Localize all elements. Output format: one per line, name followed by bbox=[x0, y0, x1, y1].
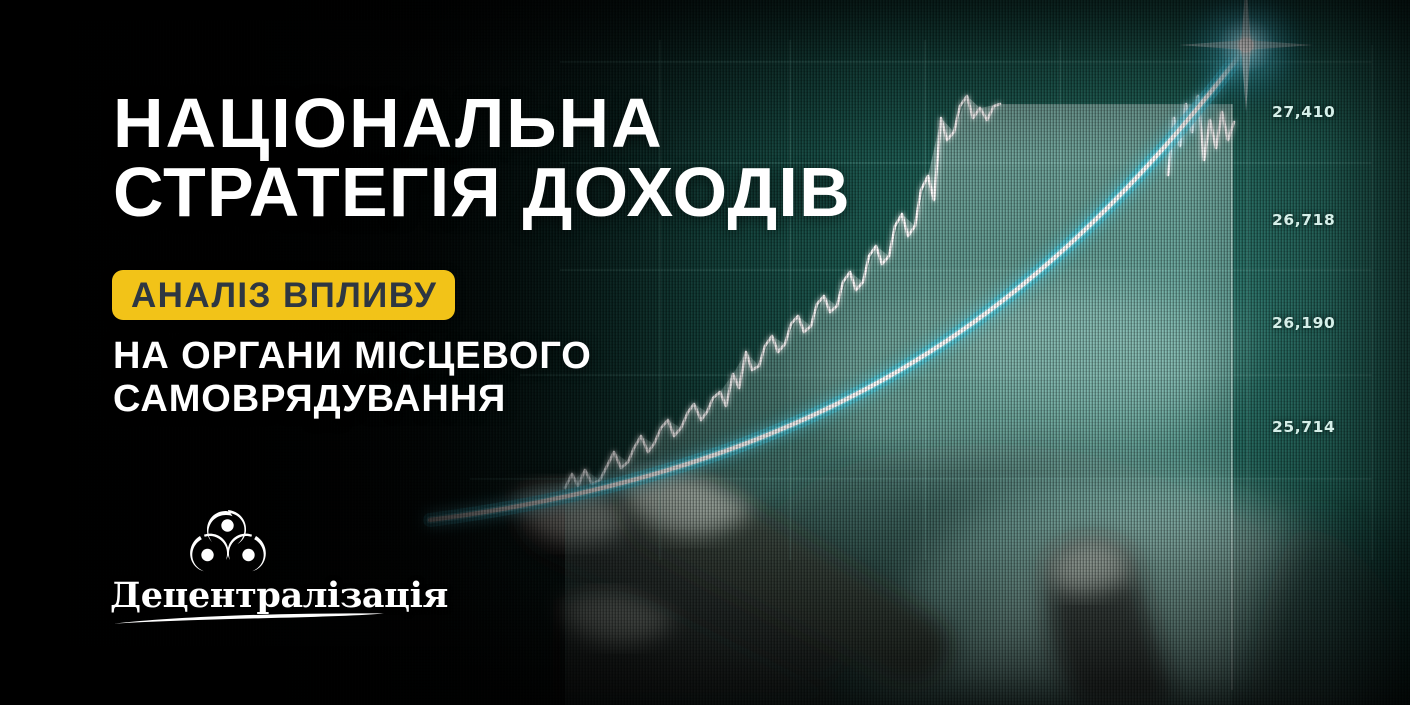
logo: Децентралізація bbox=[110, 508, 390, 626]
brush-underline-icon bbox=[112, 612, 386, 625]
headline-line-1: НАЦІОНАЛЬНА bbox=[113, 84, 664, 162]
subtitle-line-2: САМОВРЯДУВАННЯ bbox=[113, 378, 873, 421]
subtitle-line-1: НА ОРГАНИ МІСЦЕВОГО bbox=[113, 335, 592, 377]
subtitle: НА ОРГАНИ МІСЦЕВОГО САМОВРЯДУВАННЯ bbox=[113, 335, 873, 420]
status-badge: АНАЛІЗ ВПЛИВУ bbox=[112, 270, 455, 320]
page-title: НАЦІОНАЛЬНА СТРАТЕГІЯ ДОХОДІВ bbox=[113, 89, 1013, 228]
poster-canvas: 27,410 26,718 26,190 25,714 НАЦІОНАЛЬНА … bbox=[0, 0, 1410, 705]
logo-wordmark: Децентралізація bbox=[110, 578, 390, 613]
triskelion-people-icon bbox=[182, 508, 274, 580]
badge-label: АНАЛІЗ ВПЛИВУ bbox=[131, 278, 437, 313]
poster-content: НАЦІОНАЛЬНА СТРАТЕГІЯ ДОХОДІВ АНАЛІЗ ВПЛ… bbox=[0, 0, 1410, 705]
headline-line-2: СТРАТЕГІЯ ДОХОДІВ bbox=[113, 158, 1013, 227]
